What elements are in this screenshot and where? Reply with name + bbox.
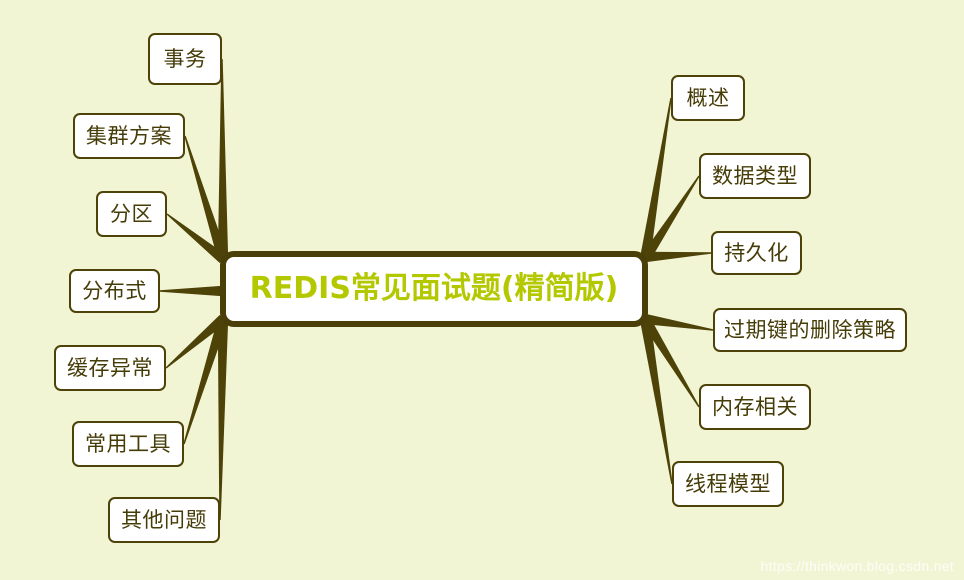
mindmap-branch-node-0[interactable]: 事务	[148, 33, 222, 85]
connector-line-5	[183, 317, 228, 444]
mindmap-branch-node-8[interactable]: 数据类型	[699, 153, 811, 199]
mindmap-branch-node-6[interactable]: 其他问题	[108, 497, 220, 543]
connector-line-10	[644, 314, 713, 331]
connector-line-3	[160, 286, 223, 296]
mindmap-branch-node-11[interactable]: 内存相关	[699, 384, 811, 430]
connector-line-8	[641, 176, 700, 262]
connector-line-1	[184, 136, 228, 261]
mindmap-branch-node-3[interactable]: 分布式	[69, 269, 160, 313]
mindmap-branch-node-1[interactable]: 集群方案	[73, 113, 185, 159]
watermark: https://thinkwon.blog.csdn.net	[761, 558, 954, 574]
connector-line-2	[167, 213, 227, 263]
connector-line-9	[645, 252, 711, 262]
connector-line-11	[641, 316, 700, 407]
connector-line-4	[166, 315, 227, 368]
connector-line-12	[640, 318, 673, 484]
mindmap-canvas: REDIS常见面试题(精简版)事务集群方案分区分布式缓存异常常用工具其他问题概述…	[0, 0, 964, 580]
mindmap-branch-node-10[interactable]: 过期键的删除策略	[713, 308, 907, 352]
mindmap-center-node[interactable]: REDIS常见面试题(精简版)	[220, 251, 648, 327]
mindmap-branch-node-7[interactable]: 概述	[671, 75, 745, 121]
connector-line-6	[218, 319, 228, 520]
mindmap-branch-node-2[interactable]: 分区	[96, 191, 167, 237]
mindmap-branch-node-4[interactable]: 缓存异常	[54, 345, 166, 391]
connector-line-7	[640, 98, 672, 260]
mindmap-branch-node-5[interactable]: 常用工具	[72, 421, 184, 467]
connector-line-0	[218, 59, 228, 259]
mindmap-branch-node-9[interactable]: 持久化	[711, 231, 802, 275]
mindmap-branch-node-12[interactable]: 线程模型	[672, 461, 784, 507]
